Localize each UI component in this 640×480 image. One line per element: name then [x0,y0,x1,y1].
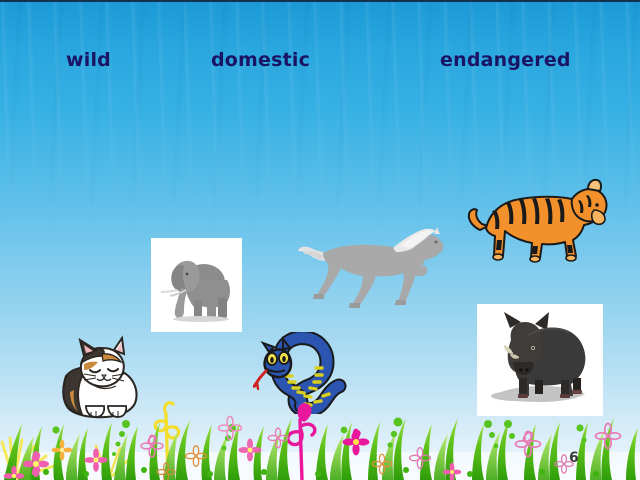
heading-domestic: domestic [211,49,310,71]
grass-flower-border [0,380,640,480]
elephant-icon [151,238,242,332]
heading-wild: wild [66,49,111,71]
page-number: 6 [569,450,579,466]
heading-endangered: endangered [440,49,571,71]
slide-canvas: wild domestic endangered [0,0,640,480]
animal-horse[interactable] [297,220,445,314]
animal-tiger[interactable] [466,174,611,266]
grass-icon [0,380,640,480]
photo-card-elephant[interactable] [151,238,242,332]
tiger-icon [466,174,611,266]
horse-icon [297,220,445,314]
